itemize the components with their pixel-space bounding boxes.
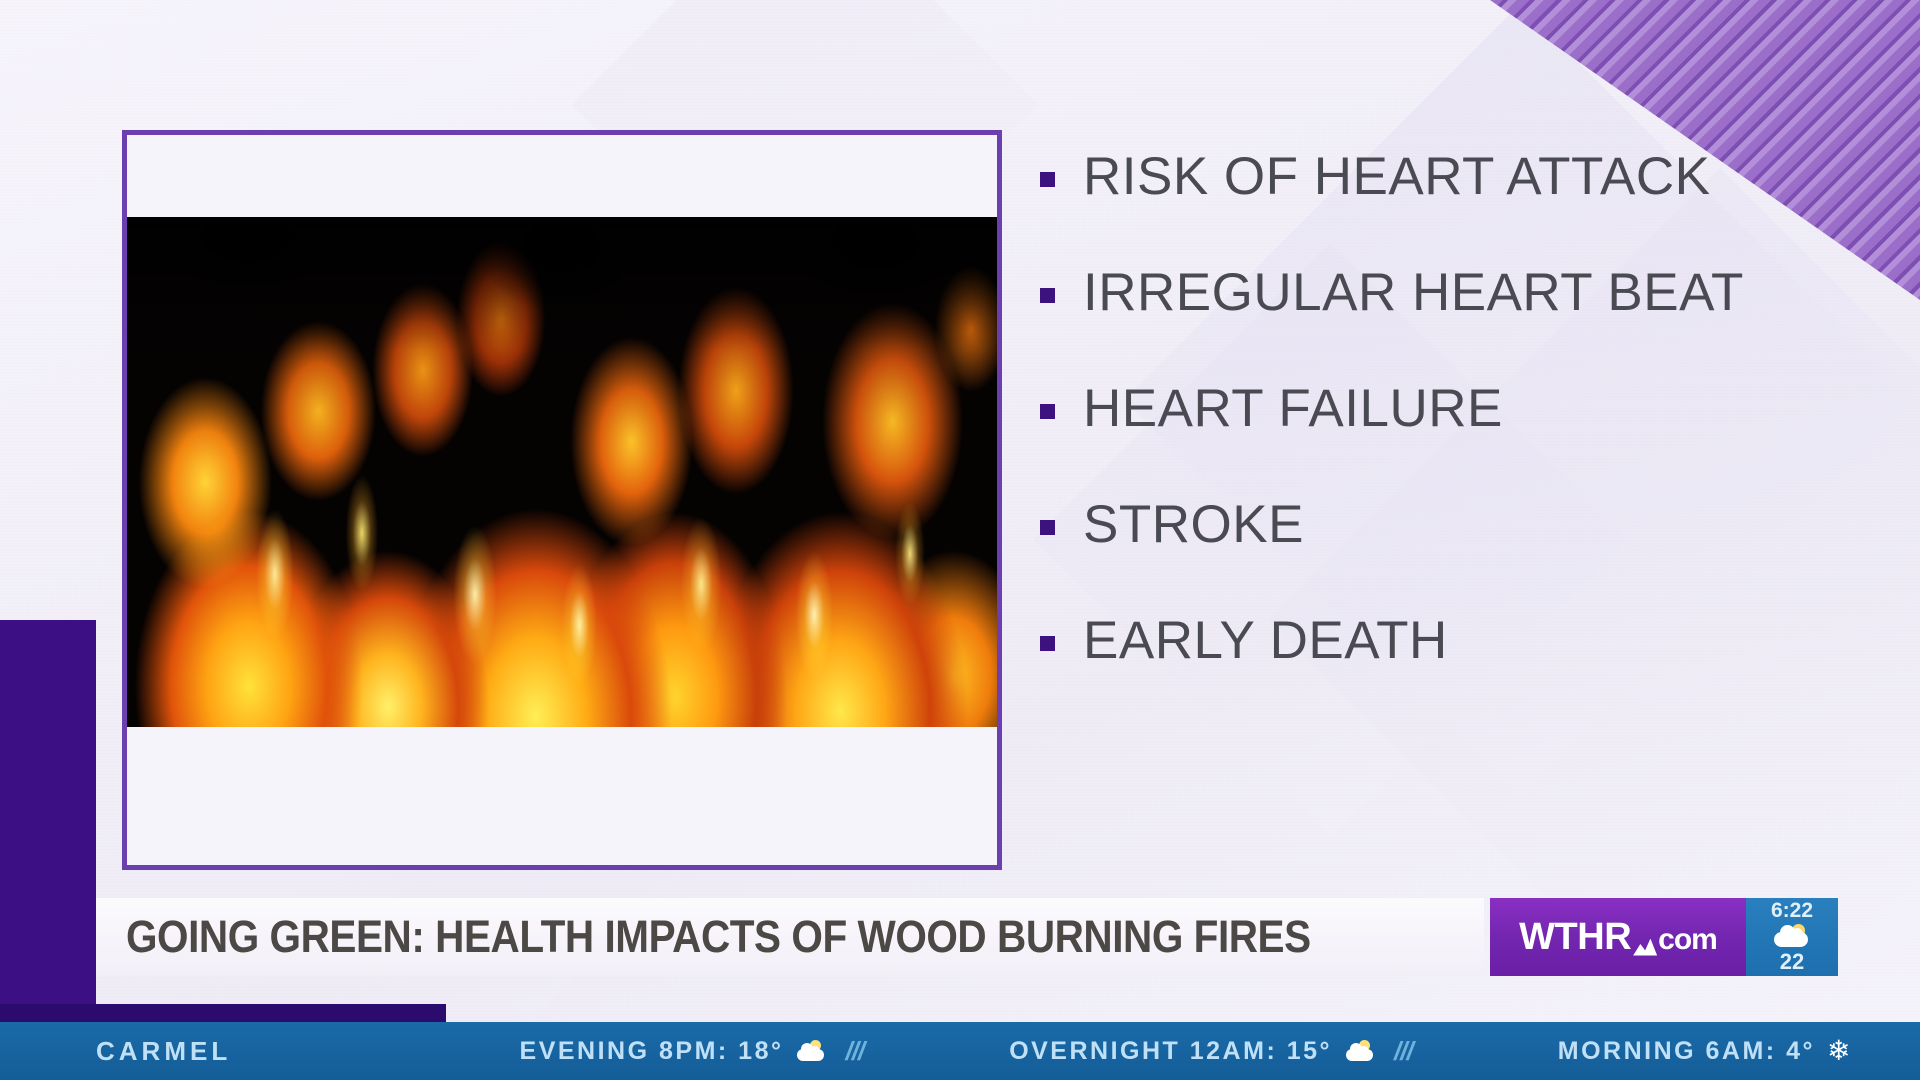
partly-cloudy-icon (1344, 1040, 1376, 1062)
fire-photo (127, 217, 997, 727)
fire-photo-frame (122, 130, 1002, 870)
ticker-forecast-label: EVENING 8PM: 18° (520, 1037, 784, 1066)
square-bullet-icon (1040, 404, 1055, 419)
square-bullet-icon (1040, 288, 1055, 303)
ticker-purple-strip (0, 1004, 446, 1022)
snowflake-icon: ❄ (1827, 1037, 1850, 1065)
list-item: IRREGULAR HEART BEAT (1040, 234, 1840, 350)
ticker-forecast-label: OVERNIGHT 12AM: 15° (1009, 1037, 1332, 1066)
clock-time: 6:22 (1771, 900, 1813, 921)
ticker-forecast-item: MORNING 6AM: 4° ❄ (1558, 1037, 1851, 1066)
list-item: STROKE (1040, 466, 1840, 582)
station-logo: WTHR com (1490, 898, 1746, 976)
flame-shadow-overlay (127, 217, 997, 727)
list-item: RISK OF HEART ATTACK (1040, 118, 1840, 234)
mountain-mark-icon (1633, 939, 1657, 956)
partly-cloudy-icon (795, 1040, 827, 1062)
ticker-forecast-list: EVENING 8PM: 18° /// OVERNIGHT 12AM: 15°… (450, 1036, 1920, 1067)
list-item: EARLY DEATH (1040, 582, 1840, 698)
weather-ticker: CARMEL EVENING 8PM: 18° /// OVERNIGHT 12… (0, 1022, 1920, 1080)
square-bullet-icon (1040, 172, 1055, 187)
square-bullet-icon (1040, 636, 1055, 651)
list-item-label: EARLY DEATH (1083, 610, 1448, 671)
ticker-forecast-item: EVENING 8PM: 18° /// (520, 1036, 871, 1067)
ticker-forecast-item: OVERNIGHT 12AM: 15° /// (1009, 1036, 1419, 1067)
list-item-label: IRREGULAR HEART BEAT (1083, 262, 1744, 323)
list-item-label: STROKE (1083, 494, 1304, 555)
ticker-separator: /// (845, 1036, 864, 1067)
ticker-city: CARMEL (96, 1036, 231, 1067)
station-domain: com (1658, 923, 1717, 957)
station-logo-text: WTHR com (1519, 916, 1717, 959)
ticker-forecast-label: MORNING 6AM: 4° (1558, 1037, 1815, 1066)
list-item-label: RISK OF HEART ATTACK (1083, 146, 1710, 207)
station-call-letters: WTHR (1519, 916, 1631, 959)
headline-text: GOING GREEN: HEALTH IMPACTS OF WOOD BURN… (126, 911, 1311, 963)
current-temperature: 22 (1780, 951, 1804, 973)
list-item-label: HEART FAILURE (1083, 378, 1503, 439)
list-item: HEART FAILURE (1040, 350, 1840, 466)
health-impact-list: RISK OF HEART ATTACK IRREGULAR HEART BEA… (1040, 118, 1840, 698)
lower-third-headline-bar: GOING GREEN: HEALTH IMPACTS OF WOOD BURN… (96, 898, 1484, 976)
square-bullet-icon (1040, 520, 1055, 535)
weather-time-box: 6:22 22 (1746, 898, 1838, 976)
ticker-separator: /// (1394, 1036, 1413, 1067)
broadcast-stage: RISK OF HEART ATTACK IRREGULAR HEART BEA… (0, 0, 1920, 1080)
cloudy-icon (1772, 924, 1812, 948)
left-purple-block (0, 620, 96, 1010)
